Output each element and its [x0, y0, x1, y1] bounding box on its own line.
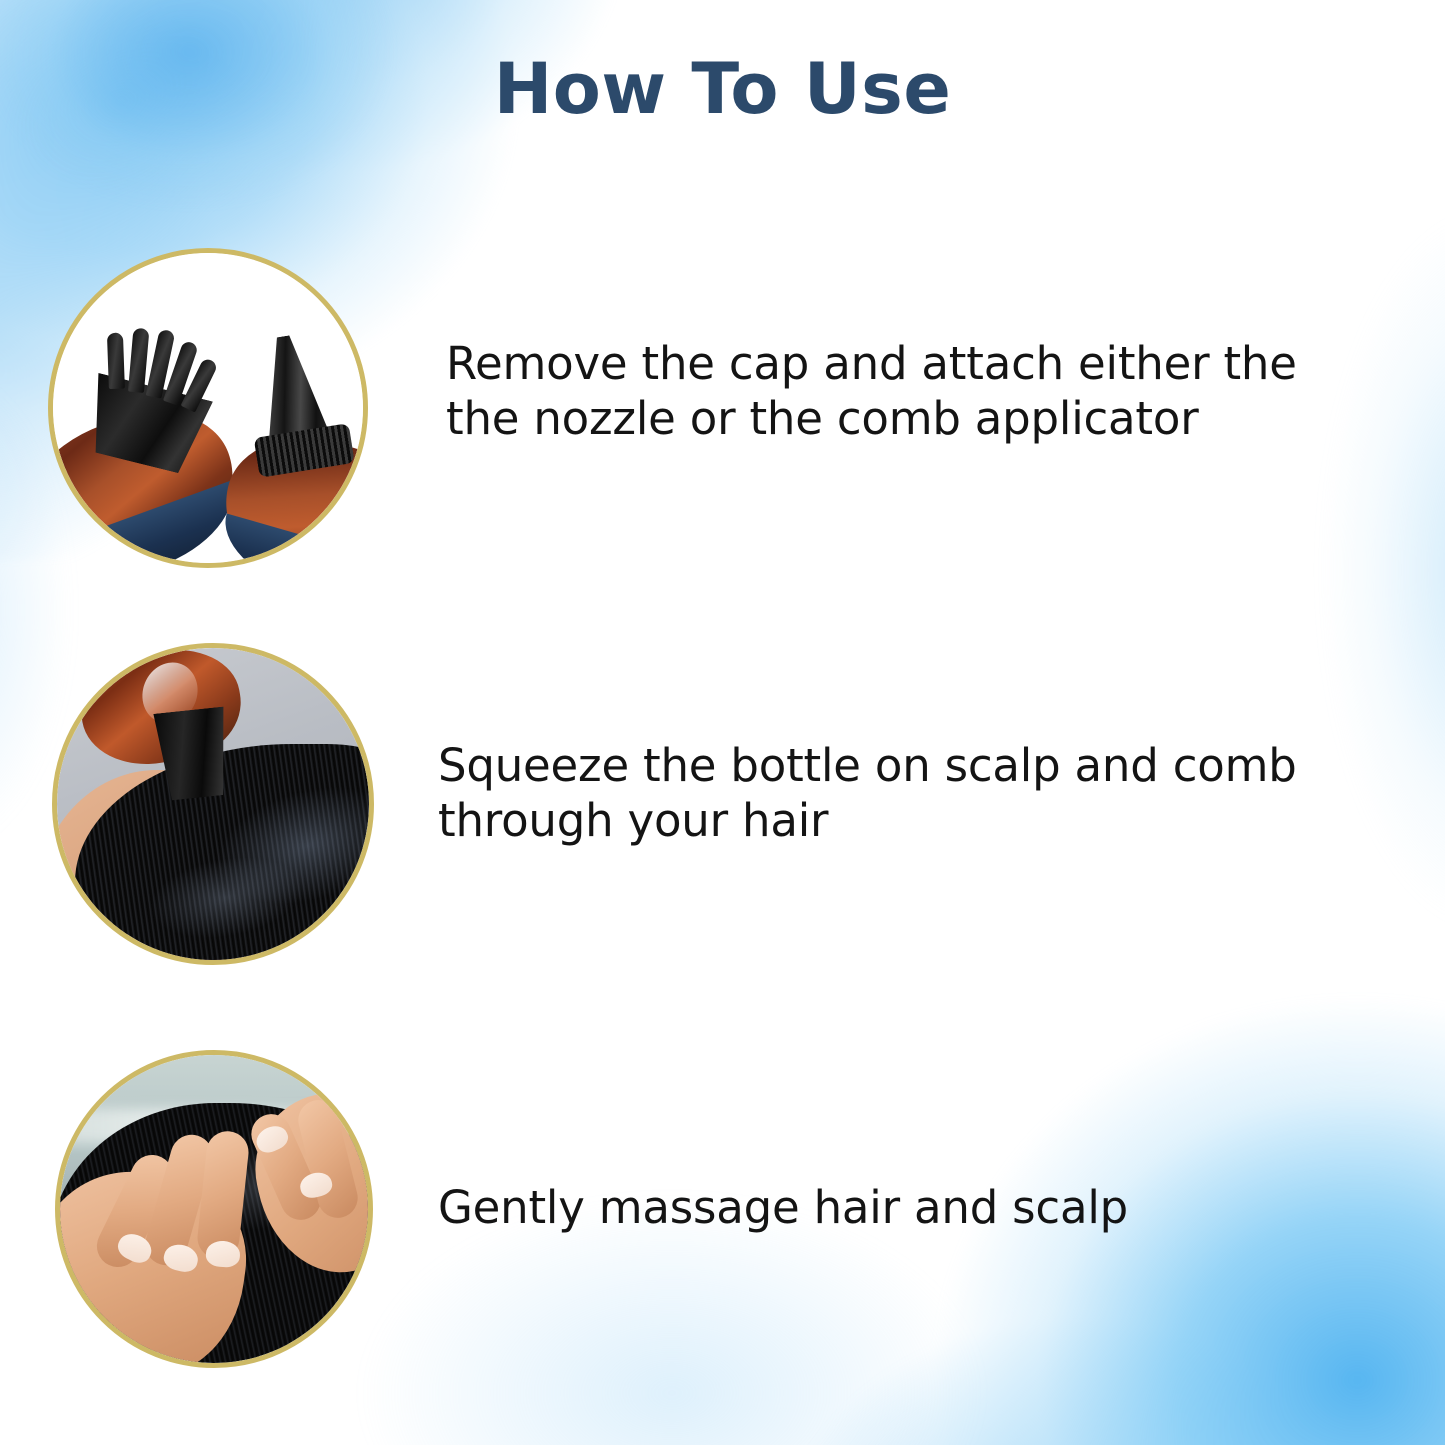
page-title: How To Use: [0, 48, 1445, 130]
nozzle-applicator: [239, 328, 356, 481]
comb-tooth: [107, 333, 125, 390]
step-2-image: [57, 648, 369, 960]
bottle-on-scalp-illustration: [57, 648, 369, 960]
step-1-text: Remove the cap and attach either the the…: [446, 336, 1346, 446]
step-1-image-frame: [48, 248, 368, 568]
how-to-use-infographic: How To Use: [0, 0, 1445, 1445]
scalp-massage-illustration: [60, 1055, 368, 1363]
step-3-image-frame: [55, 1050, 373, 1368]
comb-tooth: [128, 328, 150, 393]
wash-bottom-right: [725, 785, 1445, 1445]
bottles-with-applicators-illustration: [53, 253, 363, 563]
step-1-image: [53, 253, 363, 563]
step-3-text: Gently massage hair and scalp: [438, 1180, 1238, 1235]
step-2-image-frame: [52, 643, 374, 965]
step-3-image: [60, 1055, 368, 1363]
wash-right: [1145, 120, 1445, 1020]
step-2-text: Squeeze the bottle on scalp and comb thr…: [438, 738, 1358, 848]
